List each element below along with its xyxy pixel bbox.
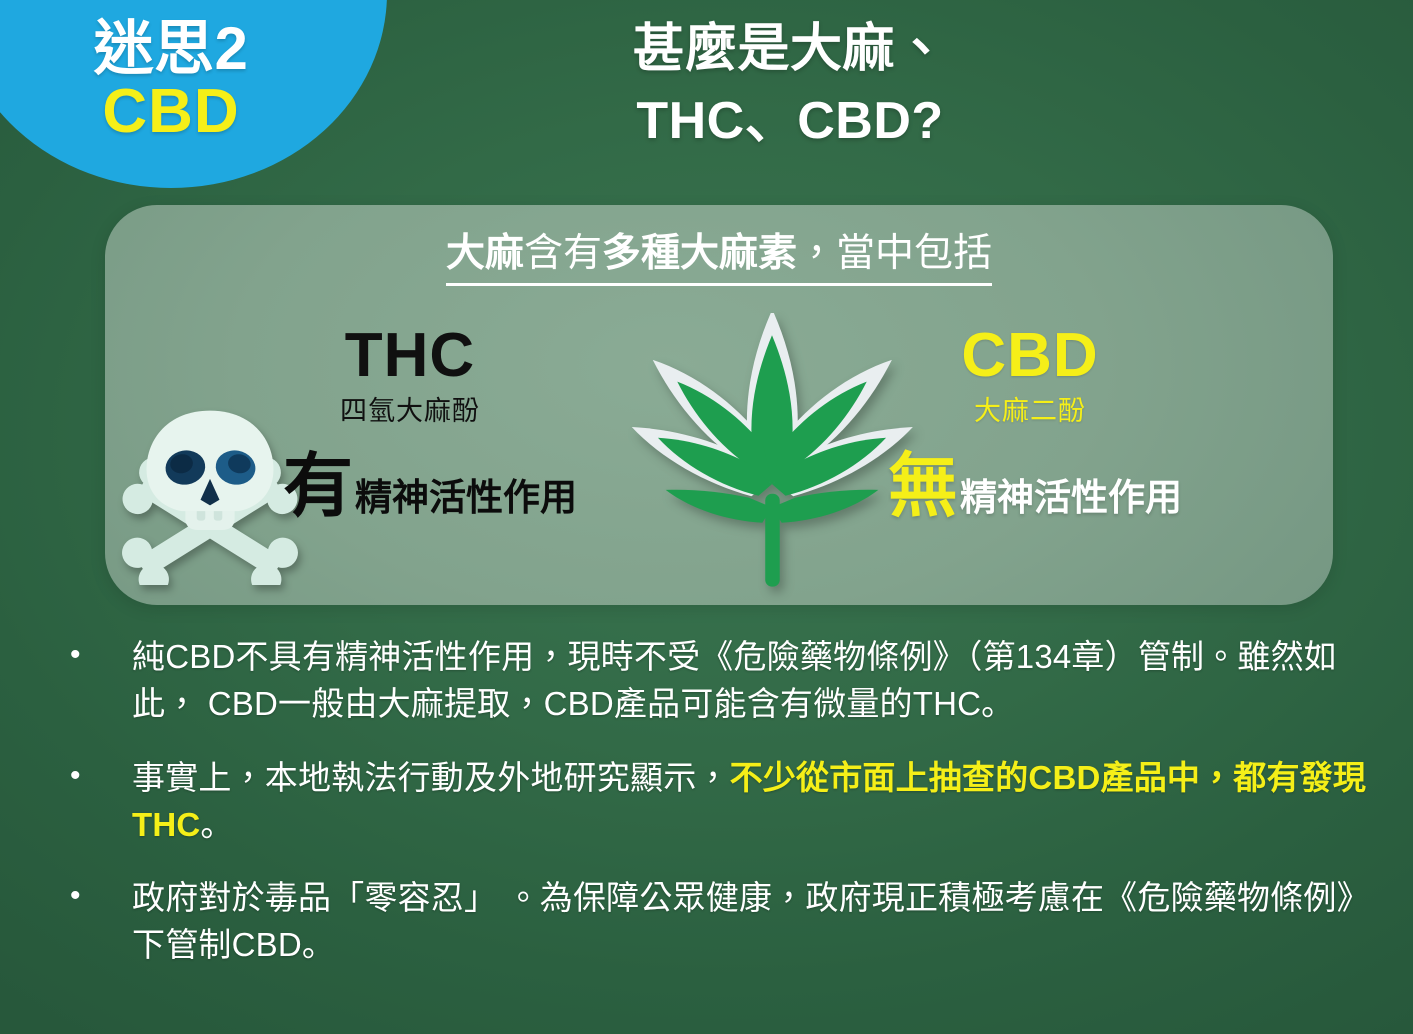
- bullet-marker-icon: •: [62, 634, 132, 677]
- bullet-text-segment: 政府對於毒品「零容忍」 。為保障公眾健康，政府現正積極考慮在《危險藥物條例》下管…: [132, 879, 1370, 963]
- myth-badge-topic: CBD: [102, 79, 239, 144]
- thc-effect-row: 有 精神活性作用: [125, 451, 695, 521]
- page-title-line-1: 甚麼是大麻、: [430, 14, 1150, 86]
- cbd-abbreviation: CBD: [745, 325, 1315, 387]
- bullet-list: •純CBD不具有精神活性作用，現時不受《危險藥物條例》（第134章）管制。雖然如…: [62, 634, 1382, 969]
- bullet-marker-icon: •: [62, 755, 132, 798]
- cbd-column: CBD 大麻二酚 無 精神活性作用: [745, 325, 1315, 521]
- card-heading-part-3: 多種大麻素: [602, 232, 797, 275]
- thc-abbreviation: THC: [125, 325, 695, 387]
- bullet-text-segment: 事實上，本地執法行動及外地研究顯示，: [132, 759, 730, 796]
- myth-badge-number: 迷思2: [94, 18, 249, 79]
- thc-effect-label: 精神活性作用: [355, 479, 577, 516]
- page-title: 甚麼是大麻、 THC、CBD?: [430, 14, 1150, 158]
- card-heading-part-1: 大麻: [446, 232, 524, 275]
- cbd-effect-label: 精神活性作用: [960, 479, 1182, 516]
- bullet-text: 純CBD不具有精神活性作用，現時不受《危險藥物條例》（第134章）管制。雖然如此…: [132, 634, 1382, 728]
- bullet-text-segment: 純CBD不具有精神活性作用，現時不受《危險藥物條例》（第134章）管制。雖然如此…: [132, 638, 1337, 722]
- card-heading-part-2: 含有: [524, 232, 602, 275]
- bullet-item: •政府對於毒品「零容忍」 。為保障公眾健康，政府現正積極考慮在《危險藥物條例》下…: [62, 875, 1382, 969]
- comparison-card: 大麻含有多種大麻素，當中包括: [105, 205, 1333, 605]
- bullet-text-segment: 。: [200, 806, 233, 843]
- cbd-effect-row: 無 精神活性作用: [745, 451, 1315, 521]
- bullet-item: •純CBD不具有精神活性作用，現時不受《危險藥物條例》（第134章）管制。雖然如…: [62, 634, 1382, 728]
- slide-root: 迷思2 CBD 甚麼是大麻、 THC、CBD? 大麻含有多種大麻素，當中包括: [0, 0, 1413, 1034]
- card-heading-part-4: ，當中包括: [797, 232, 992, 275]
- thc-column: THC 四氫大麻酚 有 精神活性作用: [125, 325, 695, 521]
- thc-effect-indicator: 有: [283, 451, 353, 521]
- bullet-marker-icon: •: [62, 875, 132, 918]
- thc-full-name: 四氫大麻酚: [125, 395, 695, 429]
- bullet-item: •事實上，本地執法行動及外地研究顯示，不少從市面上抽查的CBD產品中，都有發現T…: [62, 755, 1382, 849]
- card-heading: 大麻含有多種大麻素，當中包括: [105, 231, 1333, 286]
- page-title-line-2: THC、CBD?: [430, 86, 1150, 158]
- cbd-full-name: 大麻二酚: [745, 395, 1315, 429]
- bullet-text: 事實上，本地執法行動及外地研究顯示，不少從市面上抽查的CBD產品中，都有發現TH…: [132, 755, 1382, 849]
- cbd-effect-indicator: 無: [888, 451, 958, 521]
- bullet-text: 政府對於毒品「零容忍」 。為保障公眾健康，政府現正積極考慮在《危險藥物條例》下管…: [132, 875, 1382, 969]
- myth-badge: 迷思2 CBD: [0, 0, 387, 188]
- card-heading-underlined: 大麻含有多種大麻素，當中包括: [446, 231, 992, 286]
